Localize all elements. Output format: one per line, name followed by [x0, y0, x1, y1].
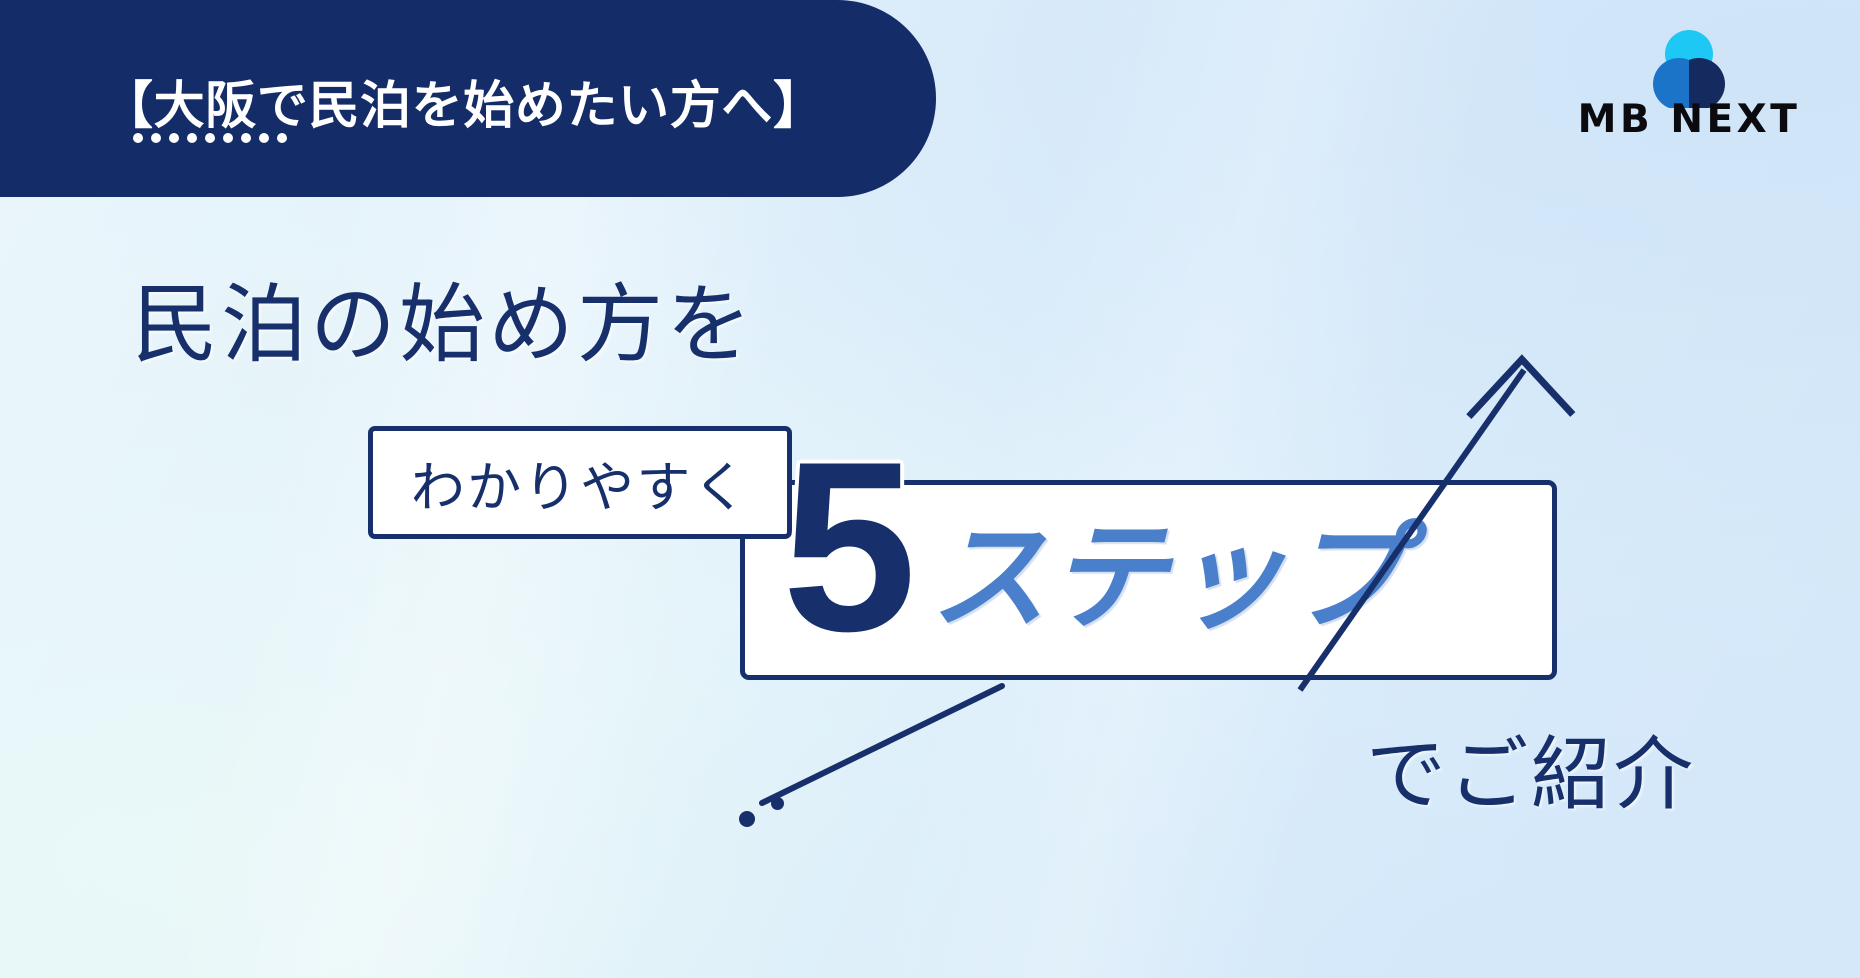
header-banner: 【大阪で民泊を始めたい方へ】 [0, 0, 936, 197]
banner-title: 【大阪で民泊を始めたい方へ】 [102, 64, 825, 138]
brand-logo: MB NEXT [1574, 30, 1804, 142]
trailing-dot-large [739, 811, 755, 827]
easy-badge-label: わかりやすく [411, 443, 750, 522]
banner-dot-underline [133, 133, 287, 143]
trailing-dot-small [771, 797, 784, 810]
headline-line-1: 民泊の始め方を [132, 254, 755, 379]
promotional-banner-canvas: 【大阪で民泊を始めたい方へ】 MB NEXT 民泊の始め方を わかりやすく 5 … [0, 0, 1860, 978]
logo-wordmark: MB NEXT [1574, 97, 1804, 142]
steps-badge-box [740, 480, 1557, 680]
easy-badge-box: わかりやすく [368, 426, 792, 539]
line-down-left [762, 686, 1002, 803]
headline-line-3: でご紹介 [1366, 710, 1696, 826]
